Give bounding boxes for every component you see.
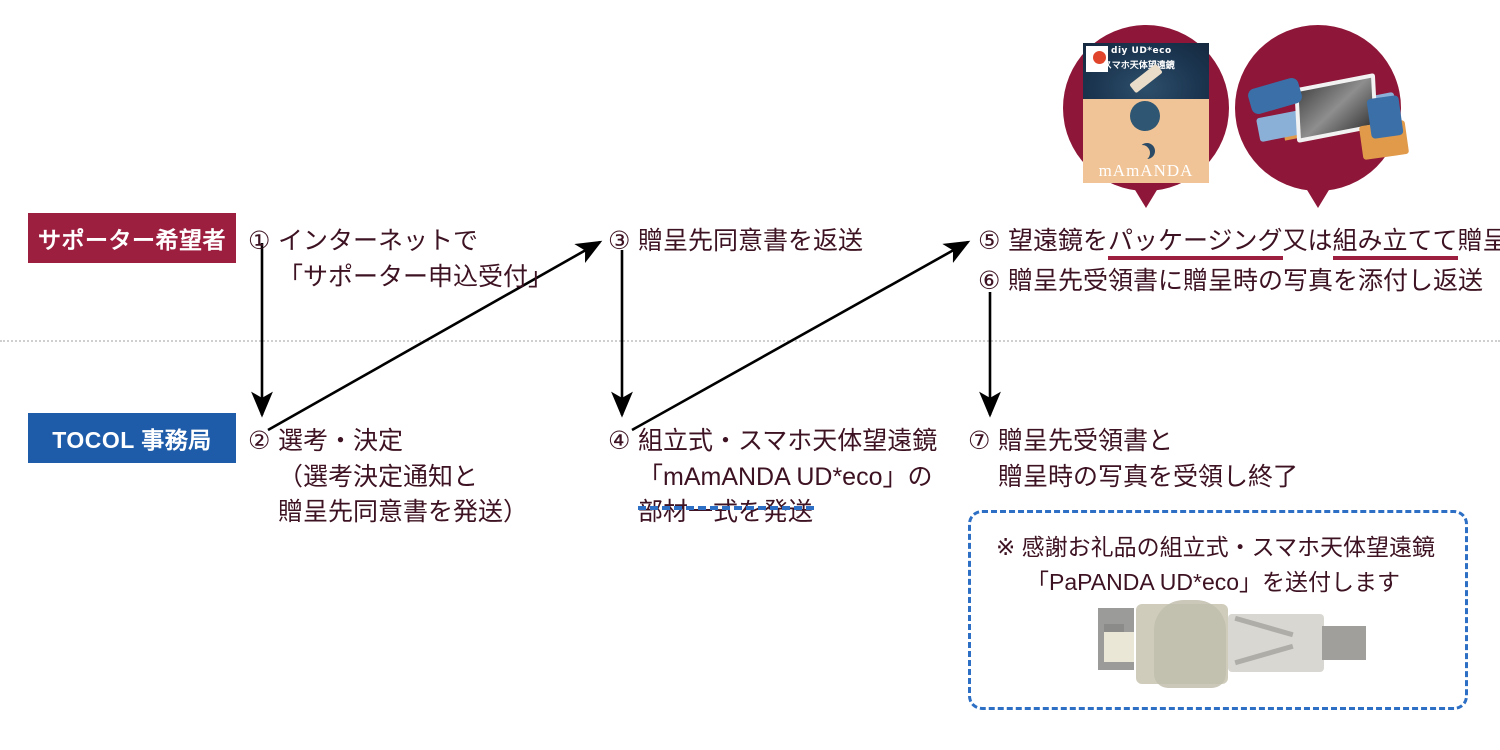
product-hood [1154, 600, 1226, 688]
package-artwork: diy UD*eco スマホ天体望遠鏡 mAmANDA [1083, 43, 1209, 183]
assembled-telescope-artwork [1243, 67, 1418, 167]
step-1-line-2: 「サポーター申込受付」 [248, 260, 553, 296]
step-2-line-3: 贈呈先同意書を発送） [248, 495, 528, 531]
step-2-line-1: 選考・決定 [278, 427, 403, 455]
step-7-line-2: 贈呈時の写真を受領し終了 [968, 460, 1298, 496]
package-moon-graphic [1139, 143, 1155, 159]
step-3: ③贈呈先同意書を返送 [608, 224, 863, 260]
step-5-prefix: 望遠鏡を [1008, 227, 1108, 255]
step-7-line-1: 贈呈先受領書と [998, 427, 1173, 455]
role-label-supporter: サポーター希望者 [28, 213, 236, 263]
bubble-tail [1129, 180, 1163, 208]
note-asterisk-mark: ※ [996, 534, 1015, 560]
role-label-office-text: TOCOL 事務局 [52, 421, 212, 455]
note-line-1: 感謝お礼品の組立式・スマホ天体望遠鏡 [1022, 534, 1435, 560]
step-4-line-2: 「mAmANDA UD*eco」の [608, 460, 937, 496]
step-5: ⑤望遠鏡をパッケージング又は組み立てて贈呈 [978, 224, 1500, 260]
role-label-supporter-text: サポーター希望者 [38, 221, 226, 255]
lane-divider [0, 340, 1500, 342]
step-2-number: ② [248, 424, 276, 460]
photo-bubble-assembled [1235, 25, 1401, 220]
step-3-line-1: 贈呈先同意書を返送 [638, 227, 863, 255]
step-5-emphasis-assemble: 組み立てて [1333, 227, 1458, 260]
product-side-panel [1104, 632, 1134, 662]
step-6: ⑥贈呈先受領書に贈呈時の写真を添付し返送 [978, 264, 1483, 300]
step-7: ⑦贈呈先受領書と 贈呈時の写真を受領し終了 [968, 424, 1298, 495]
step-4-number: ④ [608, 424, 636, 460]
step-5-number: ⑤ [978, 224, 1006, 260]
telescope-mount [1366, 95, 1403, 139]
step-1-number: ① [248, 224, 276, 260]
package-sky-text-2: スマホ天体望遠鏡 [1103, 58, 1175, 71]
package-globe-graphic [1130, 101, 1160, 131]
role-label-office: TOCOL 事務局 [28, 413, 236, 463]
package-brand-text: mAmANDA [1083, 161, 1209, 181]
step-6-number: ⑥ [978, 264, 1006, 300]
step-6-line-1: 贈呈先受領書に贈呈時の写真を添付し返送 [1008, 267, 1483, 295]
step-2: ②選考・決定 （選考決定通知と 贈呈先同意書を発送） [248, 424, 528, 531]
step-7-number: ⑦ [968, 424, 996, 460]
step-5-suffix: 贈呈 [1458, 227, 1500, 255]
step-4-line-1: 組立式・スマホ天体望遠鏡 [638, 427, 937, 455]
step-5-middle: 又は [1283, 227, 1333, 255]
step-1: ①インターネットで 「サポーター申込受付」 [248, 224, 553, 295]
package-sky-text-1: diy UD*eco [1111, 46, 1172, 56]
step-4-line-3: 部材一式を発送 [608, 495, 937, 531]
note-line-2: 「PaPANDA UD*eco」を送付します [996, 565, 1435, 600]
note-product-photo [1098, 596, 1370, 692]
step-4: ④組立式・スマホ天体望遠鏡 「mAmANDA UD*eco」の 部材一式を発送 [608, 424, 937, 531]
step-1-line-1: インターネットで [278, 227, 478, 255]
photo-bubble-package: diy UD*eco スマホ天体望遠鏡 mAmANDA [1063, 25, 1229, 220]
step-5-emphasis-packaging: パッケージング [1108, 227, 1283, 260]
step-2-line-2: （選考決定通知と [248, 460, 528, 496]
product-tip [1322, 626, 1366, 660]
step-3-number: ③ [608, 224, 636, 260]
note-text: ※ 感謝お礼品の組立式・スマホ天体望遠鏡 「PaPANDA UD*eco」を送付… [996, 530, 1435, 599]
diagram-canvas: サポーター希望者 TOCOL 事務局 diy UD*eco [0, 0, 1500, 750]
arrow-step4-to-step5 [632, 242, 968, 430]
step-4-dashed-underline [638, 506, 814, 510]
bubble-tail [1301, 180, 1335, 208]
